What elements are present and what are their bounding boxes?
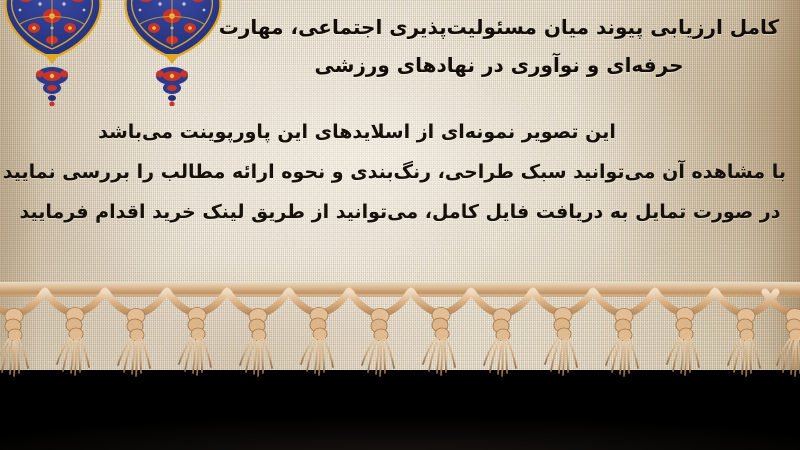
body-line-3: در صورت تمایل به دریافت فایل کامل، می‌تو… (14, 192, 786, 232)
bottom-black-band (0, 370, 800, 450)
title-line-1: کامل ارزیابی پیوند میان مسئولیت‌پذیری اج… (216, 8, 782, 46)
slide-body: این تصویر نمونه‌ای از اسلایدهای این پاور… (14, 112, 786, 232)
slide-title: کامل ارزیابی پیوند میان مسئولیت‌پذیری اج… (216, 8, 782, 84)
body-line-1: این تصویر نمونه‌ای از اسلایدهای این پاور… (14, 112, 786, 152)
title-line-2: حرفه‌ای و نوآوری در نهادهای ورزشی (216, 46, 782, 84)
body-line-2: با مشاهده آن می‌توانید سبک طراحی، رنگ‌بن… (14, 152, 786, 192)
presentation-slide: کامل ارزیابی پیوند میان مسئولیت‌پذیری اج… (0, 0, 800, 450)
